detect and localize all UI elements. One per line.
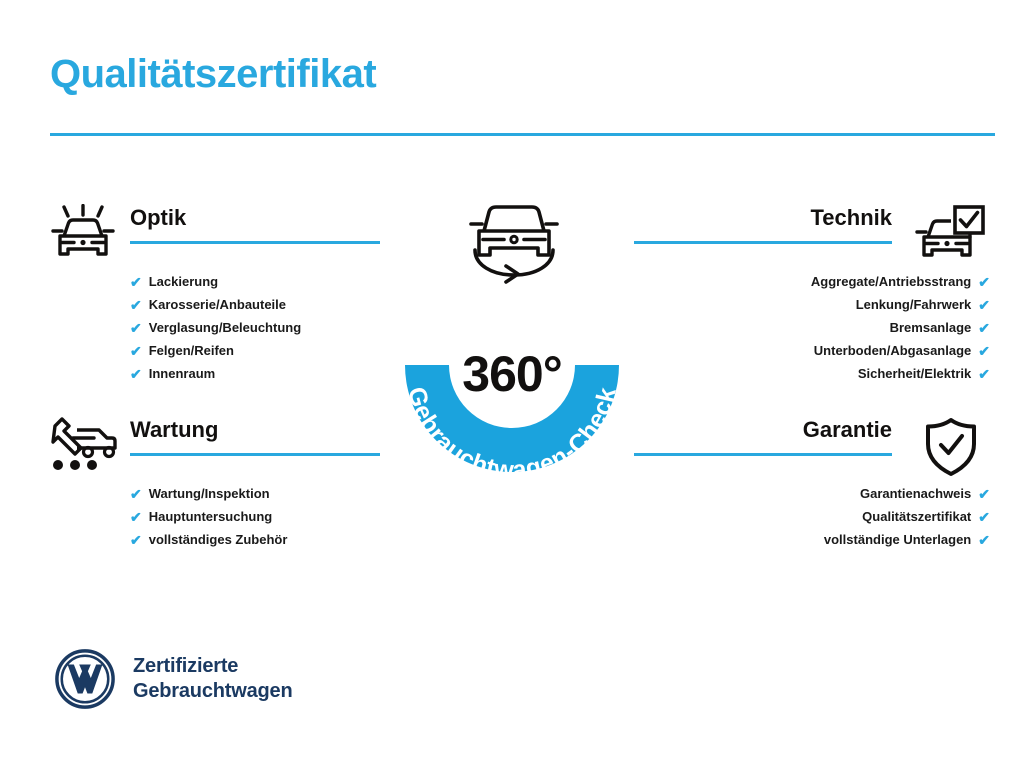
check-icon: ✔ xyxy=(978,510,990,524)
check-icon: ✔ xyxy=(130,344,142,358)
list-item: vollständige Unterlagen ✔ xyxy=(634,528,990,551)
list-item-label: Sicherheit/Elektrik xyxy=(858,366,971,381)
list-item: ✔ Felgen/Reifen xyxy=(130,339,390,362)
car-rotate-icon xyxy=(459,193,569,288)
list-item: Garantienachweis ✔ xyxy=(634,482,990,505)
list-item-label: Verglasung/Beleuchtung xyxy=(149,320,301,335)
car-shine-icon xyxy=(44,202,122,268)
list-item: ✔ Hauptuntersuchung xyxy=(130,505,390,528)
car-checkbox-icon xyxy=(912,202,990,268)
vw-logo-text-line1: Zertifizierte xyxy=(133,654,292,679)
list-item: ✔ Lackierung xyxy=(130,270,390,293)
list-item: Sicherheit/Elektrik ✔ xyxy=(634,362,990,385)
list-item-label: Garantienachweis xyxy=(860,486,971,501)
list-item-label: Karosserie/Anbauteile xyxy=(149,297,286,312)
section-optik-header: Optik xyxy=(40,200,390,270)
check-icon: ✔ xyxy=(978,367,990,381)
list-item-label: Wartung/Inspektion xyxy=(149,486,270,501)
check-icon: ✔ xyxy=(130,510,142,524)
vw-logo-text: Zertifizierte Gebrauchtwagen xyxy=(133,654,292,704)
section-garantie-list: Garantienachweis ✔ Qualitätszertifikat ✔… xyxy=(634,482,990,551)
check-icon: ✔ xyxy=(978,344,990,358)
list-item-label: vollständiges Zubehör xyxy=(149,532,288,547)
vw-logo-lockup: Zertifizierte Gebrauchtwagen xyxy=(54,648,292,710)
list-item-label: Innenraum xyxy=(149,366,215,381)
list-item-label: vollständige Unterlagen xyxy=(824,532,971,547)
section-garantie-title-wrap: Garantie xyxy=(634,412,892,456)
check-icon: ✔ xyxy=(130,275,142,289)
header-divider xyxy=(50,133,995,136)
list-item: Bremsanlage ✔ xyxy=(634,316,990,339)
list-item: Lenkung/Fahrwerk ✔ xyxy=(634,293,990,316)
check-icon: ✔ xyxy=(130,367,142,381)
section-wartung-header: Wartung xyxy=(40,412,390,482)
page-title: Qualitätszertifikat xyxy=(50,52,376,96)
check-icon: ✔ xyxy=(978,533,990,547)
section-optik-underline xyxy=(130,241,380,244)
list-item: Unterboden/Abgasanlage ✔ xyxy=(634,339,990,362)
list-item: ✔ Innenraum xyxy=(130,362,390,385)
list-item: ✔ Wartung/Inspektion xyxy=(130,482,390,505)
section-optik: Optik ✔ Lackierung ✔ Karosserie/Anbautei… xyxy=(40,200,390,385)
check-icon: ✔ xyxy=(130,533,142,547)
section-wartung-list: ✔ Wartung/Inspektion ✔ Hauptuntersuchung… xyxy=(130,482,390,551)
list-item-label: Unterboden/Abgasanlage xyxy=(814,343,971,358)
check-icon: ✔ xyxy=(978,487,990,501)
shield-check-icon xyxy=(912,414,990,480)
section-technik-header: Technik xyxy=(634,200,990,270)
section-garantie-underline xyxy=(634,453,892,456)
list-item-label: Lackierung xyxy=(149,274,218,289)
check-icon: ✔ xyxy=(130,487,142,501)
section-technik-title: Technik xyxy=(634,200,892,236)
check-icon: ✔ xyxy=(978,275,990,289)
360-center-label: 360° xyxy=(379,345,645,403)
section-garantie-header: Garantie xyxy=(634,412,990,482)
list-item-label: Felgen/Reifen xyxy=(149,343,234,358)
section-wartung-title-wrap: Wartung xyxy=(130,412,380,456)
check-icon: ✔ xyxy=(130,321,142,335)
check-icon: ✔ xyxy=(130,298,142,312)
list-item-label: Qualitätszertifikat xyxy=(862,509,971,524)
list-item: ✔ vollständiges Zubehör xyxy=(130,528,390,551)
list-item: ✔ Karosserie/Anbauteile xyxy=(130,293,390,316)
section-technik: Technik Aggregate/Antriebsstrang ✔ Lenku… xyxy=(634,200,990,385)
section-garantie-title: Garantie xyxy=(634,412,892,448)
section-wartung: Wartung ✔ Wartung/Inspektion ✔ Hauptunte… xyxy=(40,412,390,551)
list-item: Aggregate/Antriebsstrang ✔ xyxy=(634,270,990,293)
360-check-badge: Gebrauchtwagen-Check 360° xyxy=(379,193,645,493)
list-item-label: Aggregate/Antriebsstrang xyxy=(811,274,971,289)
section-optik-title-wrap: Optik xyxy=(130,200,380,244)
section-garantie: Garantie Garantienachweis ✔ Qualitätszer… xyxy=(634,412,990,551)
section-optik-title: Optik xyxy=(130,200,380,236)
list-item-label: Hauptuntersuchung xyxy=(149,509,273,524)
car-service-tools-icon xyxy=(44,414,122,480)
check-icon: ✔ xyxy=(978,298,990,312)
list-item-label: Bremsanlage xyxy=(890,320,972,335)
vw-logo-text-line2: Gebrauchtwagen xyxy=(133,679,292,704)
section-technik-underline xyxy=(634,241,892,244)
section-wartung-title: Wartung xyxy=(130,412,380,448)
list-item: Qualitätszertifikat ✔ xyxy=(634,505,990,528)
section-technik-list: Aggregate/Antriebsstrang ✔ Lenkung/Fahrw… xyxy=(634,270,990,385)
section-optik-list: ✔ Lackierung ✔ Karosserie/Anbauteile ✔ V… xyxy=(130,270,390,385)
section-wartung-underline xyxy=(130,453,380,456)
vw-logo-icon xyxy=(54,648,116,710)
check-icon: ✔ xyxy=(978,321,990,335)
section-technik-title-wrap: Technik xyxy=(634,200,892,244)
list-item: ✔ Verglasung/Beleuchtung xyxy=(130,316,390,339)
list-item-label: Lenkung/Fahrwerk xyxy=(856,297,972,312)
